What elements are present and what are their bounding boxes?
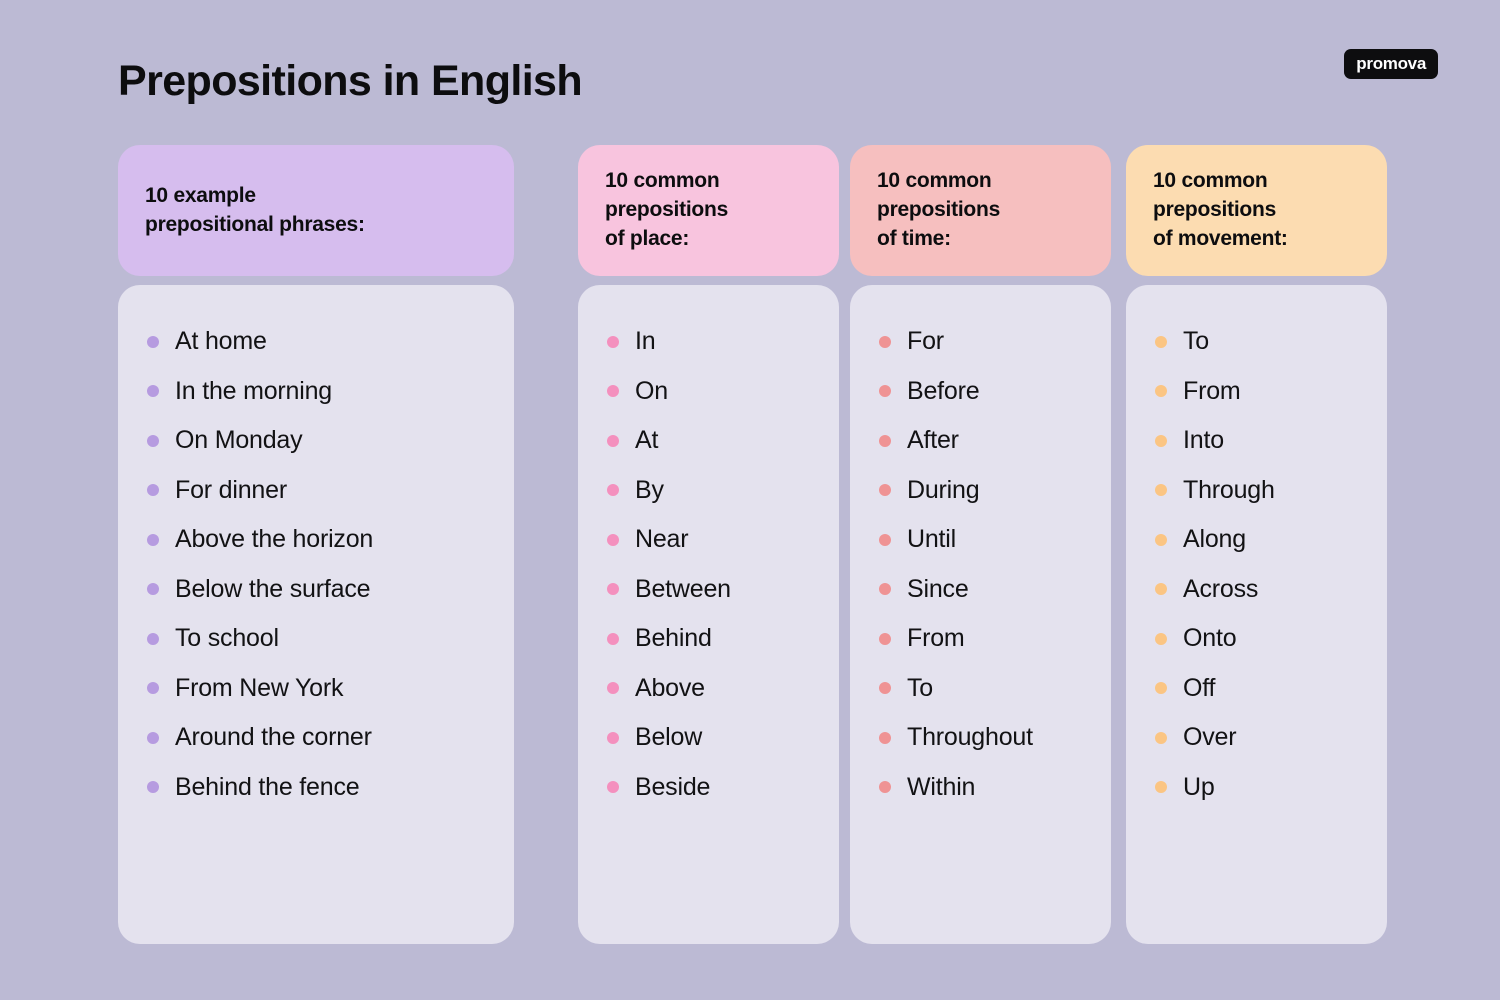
column-prepositions-of-time: 10 common prepositions of time: ForBefor… — [850, 145, 1111, 944]
list-item-label: During — [907, 477, 979, 505]
bullet-dot-icon — [147, 633, 159, 645]
list-item-label: Through — [1183, 477, 1275, 505]
list-item: Until — [879, 526, 1087, 554]
bullet-dot-icon — [879, 682, 891, 694]
bullet-dot-icon — [879, 534, 891, 546]
list-item: Beside — [607, 774, 815, 802]
bullet-dot-icon — [147, 732, 159, 744]
list-item-label: Below the surface — [175, 576, 370, 604]
list-item: On — [607, 378, 815, 406]
list-item: Before — [879, 378, 1087, 406]
list-item-label: Around the corner — [175, 724, 372, 752]
list-item-label: From — [1183, 378, 1241, 406]
list-item: To — [879, 675, 1087, 703]
brand-logo: promova — [1344, 49, 1438, 79]
list-item: Across — [1155, 576, 1363, 604]
bullet-dot-icon — [147, 385, 159, 397]
list-item: For dinner — [147, 477, 490, 505]
list-item-label: In the morning — [175, 378, 332, 406]
column-header-label: 10 common prepositions of place: — [605, 167, 728, 254]
list-item: Throughout — [879, 724, 1087, 752]
list-item: Along — [1155, 526, 1363, 554]
bullet-dot-icon — [607, 435, 619, 447]
list-item-label: Before — [907, 378, 979, 406]
bullet-dot-icon — [147, 534, 159, 546]
list-item: In the morning — [147, 378, 490, 406]
column-body-card: ToFromIntoThroughAlongAcrossOntoOffOverU… — [1126, 285, 1387, 944]
bullet-dot-icon — [607, 781, 619, 793]
list-item-label: Off — [1183, 675, 1215, 703]
bullet-dot-icon — [879, 781, 891, 793]
bullet-dot-icon — [607, 682, 619, 694]
list-item-label: Above the horizon — [175, 526, 373, 554]
bullet-dot-icon — [1155, 336, 1167, 348]
bullet-dot-icon — [147, 682, 159, 694]
list-item: From New York — [147, 675, 490, 703]
list-item: For — [879, 328, 1087, 356]
list-item: To school — [147, 625, 490, 653]
list-item: Onto — [1155, 625, 1363, 653]
list-item: From — [1155, 378, 1363, 406]
column-prepositions-of-movement: 10 common prepositions of movement: ToFr… — [1126, 145, 1387, 944]
bullet-dot-icon — [879, 633, 891, 645]
list-item-label: Onto — [1183, 625, 1236, 653]
column-prepositions-of-place: 10 common prepositions of place: InOnAtB… — [578, 145, 839, 944]
list-item-label: Behind the fence — [175, 774, 359, 802]
column-header-card: 10 common prepositions of movement: — [1126, 145, 1387, 276]
list-item: To — [1155, 328, 1363, 356]
list-item-label: On Monday — [175, 427, 302, 455]
bullet-dot-icon — [879, 583, 891, 595]
bullet-dot-icon — [1155, 583, 1167, 595]
list-item-label: For dinner — [175, 477, 287, 505]
list-item-label: At — [635, 427, 658, 455]
list-item: Off — [1155, 675, 1363, 703]
list-item-label: Until — [907, 526, 956, 554]
list-item-label: Below — [635, 724, 702, 752]
list-item: Over — [1155, 724, 1363, 752]
bullet-dot-icon — [879, 732, 891, 744]
list-item: Below — [607, 724, 815, 752]
column-body-card: ForBeforeAfterDuringUntilSinceFromToThro… — [850, 285, 1111, 944]
bullet-dot-icon — [1155, 732, 1167, 744]
list-item-label: Since — [907, 576, 969, 604]
bullet-dot-icon — [607, 583, 619, 595]
list-item-label: Beside — [635, 774, 710, 802]
list-item-label: Throughout — [907, 724, 1033, 752]
bullet-dot-icon — [879, 435, 891, 447]
preposition-list: ForBeforeAfterDuringUntilSinceFromToThro… — [879, 328, 1087, 801]
list-item: Behind the fence — [147, 774, 490, 802]
list-item-label: Over — [1183, 724, 1236, 752]
list-item-label: Between — [635, 576, 731, 604]
column-example-phrases: 10 example prepositional phrases: At hom… — [118, 145, 514, 944]
list-item: Up — [1155, 774, 1363, 802]
list-item-label: To — [907, 675, 933, 703]
list-item: On Monday — [147, 427, 490, 455]
list-item: Below the surface — [147, 576, 490, 604]
list-item-label: Within — [907, 774, 975, 802]
list-item: Into — [1155, 427, 1363, 455]
bullet-dot-icon — [879, 385, 891, 397]
bullet-dot-icon — [607, 732, 619, 744]
bullet-dot-icon — [147, 484, 159, 496]
column-header-label: 10 example prepositional phrases: — [145, 182, 365, 240]
list-item-label: By — [635, 477, 664, 505]
list-item: Through — [1155, 477, 1363, 505]
list-item: Between — [607, 576, 815, 604]
bullet-dot-icon — [147, 781, 159, 793]
list-item-label: After — [907, 427, 959, 455]
list-item-label: Along — [1183, 526, 1246, 554]
column-header-label: 10 common prepositions of time: — [877, 167, 1000, 254]
list-item: Around the corner — [147, 724, 490, 752]
list-item: In — [607, 328, 815, 356]
column-header-card: 10 common prepositions of place: — [578, 145, 839, 276]
list-item: Above the horizon — [147, 526, 490, 554]
list-item-label: To — [1183, 328, 1209, 356]
list-item: After — [879, 427, 1087, 455]
list-item: Within — [879, 774, 1087, 802]
list-item-label: Near — [635, 526, 688, 554]
bullet-dot-icon — [1155, 534, 1167, 546]
list-item: Since — [879, 576, 1087, 604]
column-header-card: 10 example prepositional phrases: — [118, 145, 514, 276]
list-item-label: In — [635, 328, 655, 356]
preposition-list: At homeIn the morningOn MondayFor dinner… — [147, 328, 490, 801]
bullet-dot-icon — [607, 385, 619, 397]
list-item: Near — [607, 526, 815, 554]
bullet-dot-icon — [1155, 385, 1167, 397]
bullet-dot-icon — [607, 484, 619, 496]
list-item-label: Up — [1183, 774, 1215, 802]
list-item-label: Into — [1183, 427, 1224, 455]
column-body-card: At homeIn the morningOn MondayFor dinner… — [118, 285, 514, 944]
list-item-label: Above — [635, 675, 705, 703]
list-item-label: From — [907, 625, 965, 653]
list-item: Behind — [607, 625, 815, 653]
list-item-label: To school — [175, 625, 279, 653]
list-item: During — [879, 477, 1087, 505]
bullet-dot-icon — [147, 336, 159, 348]
column-header-card: 10 common prepositions of time: — [850, 145, 1111, 276]
list-item: Above — [607, 675, 815, 703]
list-item-label: Across — [1183, 576, 1258, 604]
list-item-label: On — [635, 378, 668, 406]
bullet-dot-icon — [879, 336, 891, 348]
page-title: Prepositions in English — [118, 57, 582, 106]
bullet-dot-icon — [879, 484, 891, 496]
bullet-dot-icon — [147, 435, 159, 447]
column-header-label: 10 common prepositions of movement: — [1153, 167, 1288, 254]
bullet-dot-icon — [1155, 682, 1167, 694]
bullet-dot-icon — [1155, 484, 1167, 496]
list-item-label: At home — [175, 328, 267, 356]
bullet-dot-icon — [1155, 781, 1167, 793]
list-item: At home — [147, 328, 490, 356]
bullet-dot-icon — [147, 583, 159, 595]
bullet-dot-icon — [1155, 633, 1167, 645]
list-item: By — [607, 477, 815, 505]
bullet-dot-icon — [607, 336, 619, 348]
list-item-label: Behind — [635, 625, 712, 653]
bullet-dot-icon — [607, 633, 619, 645]
list-item-label: For — [907, 328, 944, 356]
column-body-card: InOnAtByNearBetweenBehindAboveBelowBesid… — [578, 285, 839, 944]
preposition-list: InOnAtByNearBetweenBehindAboveBelowBesid… — [607, 328, 815, 801]
list-item: From — [879, 625, 1087, 653]
bullet-dot-icon — [1155, 435, 1167, 447]
preposition-list: ToFromIntoThroughAlongAcrossOntoOffOverU… — [1155, 328, 1363, 801]
list-item-label: From New York — [175, 675, 343, 703]
bullet-dot-icon — [607, 534, 619, 546]
prepositions-board: 10 example prepositional phrases: At hom… — [0, 145, 1500, 945]
list-item: At — [607, 427, 815, 455]
